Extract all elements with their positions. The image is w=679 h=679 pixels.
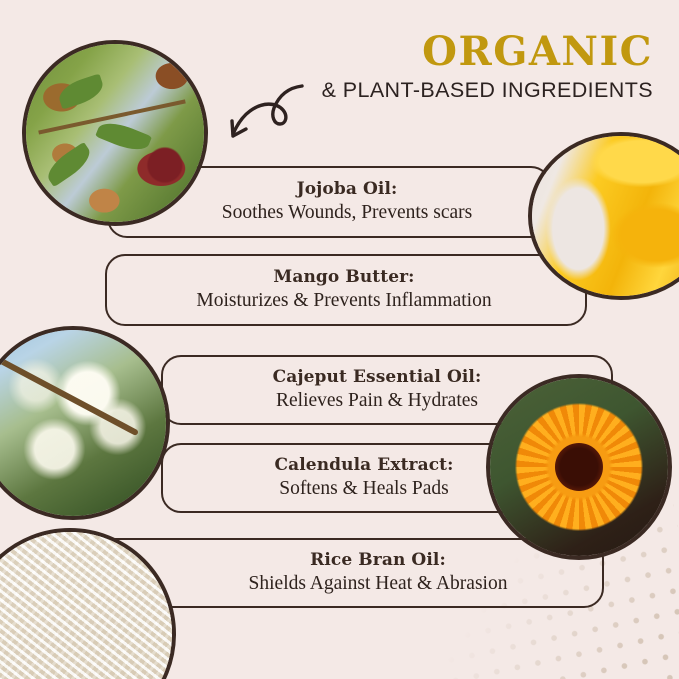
calendula-flower-photo [486,374,672,560]
curly-arrow-icon [224,78,308,150]
ingredient-desc: Shields Against Heat & Abrasion [249,572,508,596]
ingredient-text-mango: Mango Butter: Moisturizes & Prevents Inf… [196,267,491,314]
ingredient-text-jojoba: Jojoba Oil: Soothes Wounds, Prevents sca… [222,179,472,226]
ingredient-title: Cajeput Essential Oil: [273,367,482,387]
mango-photo-fill [532,136,679,296]
jojoba-fruit-photo [22,40,208,226]
ingredient-row-mango: Mango Butter: Moisturizes & Prevents Inf… [105,254,587,326]
ingredient-desc: Soothes Wounds, Prevents scars [222,201,472,225]
calendula-core [555,443,603,491]
ingredient-text-cajeput: Cajeput Essential Oil: Relieves Pain & H… [273,367,482,414]
heading-subtitle: & PLANT-BASED INGREDIENTS [322,78,653,103]
mango-butter-photo [528,132,679,300]
ingredient-text-calendula: Calendula Extract: Softens & Heals Pads [274,455,453,502]
ingredient-title: Jojoba Oil: [222,179,472,199]
ingredient-desc: Relieves Pain & Hydrates [273,389,482,413]
ingredient-title: Mango Butter: [196,267,491,287]
heading-organic: ORGANIC [322,32,653,73]
ingredient-desc: Softens & Heals Pads [274,477,453,501]
ingredient-title: Rice Bran Oil: [249,550,508,570]
ingredient-title: Calendula Extract: [274,455,453,475]
rice-grains-photo [0,528,176,679]
cajeput-photo-fill [0,330,166,516]
cajeput-flower-photo [0,326,170,520]
ingredient-text-rice: Rice Bran Oil: Shields Against Heat & Ab… [249,550,508,597]
page-title: ORGANIC & PLANT-BASED INGREDIENTS [322,32,653,103]
ingredient-desc: Moisturizes & Prevents Inflammation [196,289,491,313]
rice-photo-fill [0,532,172,679]
